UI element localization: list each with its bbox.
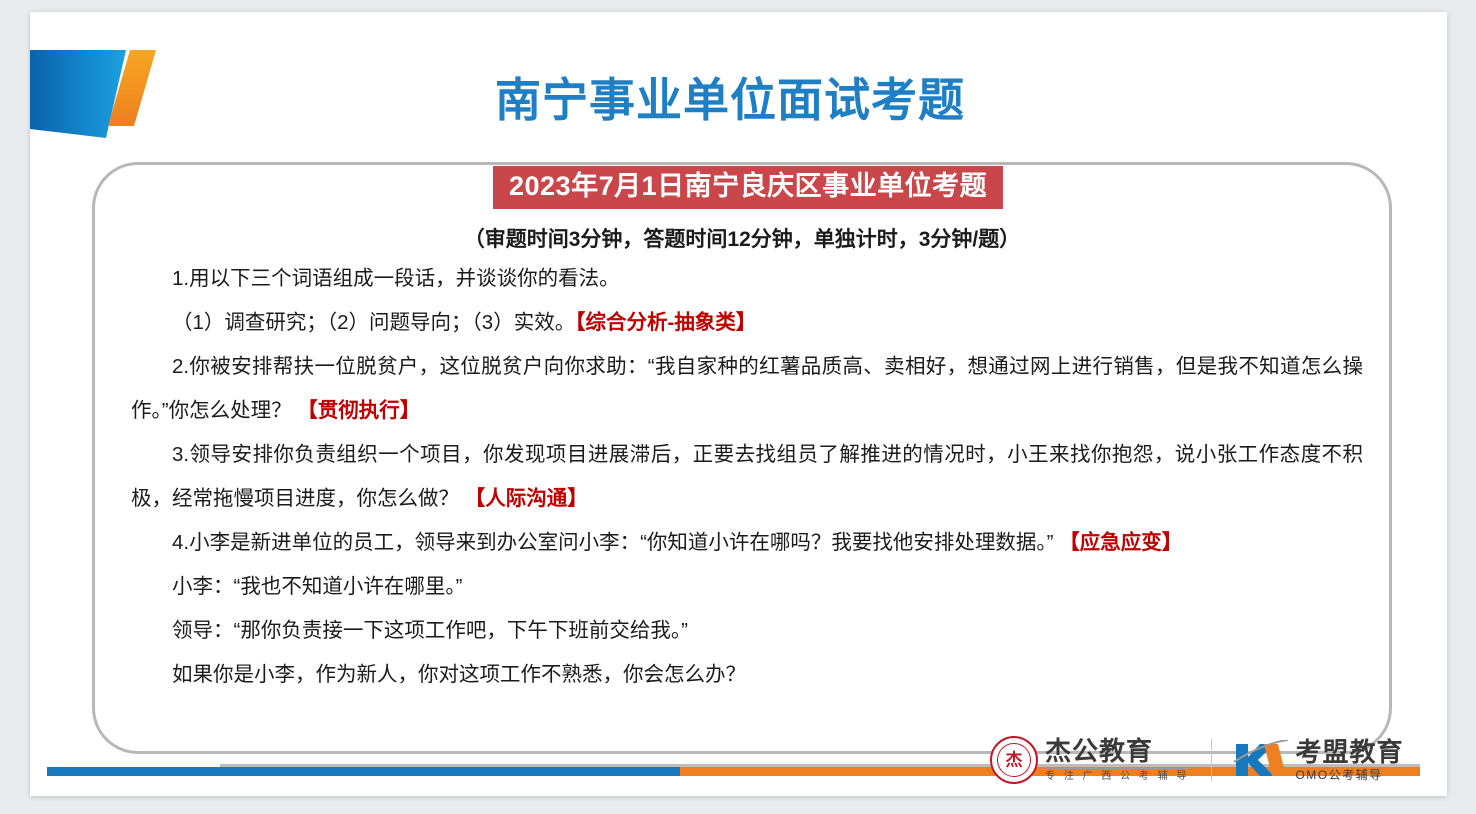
page-title: 南宁事业单位面试考题 (210, 64, 1250, 130)
logo-kaomeng-words: 考盟教育 OMO公考辅导 (1295, 739, 1403, 781)
logo-divider (1211, 739, 1212, 781)
footer-rule-blue (47, 767, 680, 776)
logo-jiegong: 杰 杰公教育 专 注 广 西 公 考 辅 导 (990, 736, 1189, 784)
logo-jiegong-words: 杰公教育 专 注 广 西 公 考 辅 导 (1045, 738, 1189, 782)
questions-body: 1.用以下三个词语组成一段话，并谈谈你的看法。 （1）调查研究；（2）问题导向；… (131, 257, 1363, 697)
seal-glyph: 杰 (992, 752, 1036, 769)
question-1-tag: 【综合分析-抽象类】 (575, 311, 756, 334)
logo-kaomeng-tagline: OMO公考辅导 (1295, 769, 1403, 781)
logo-kaomeng-name: 考盟教育 (1295, 739, 1403, 765)
question-4-tag: 【应急应变】 (1059, 531, 1182, 554)
question-1-items: （1）调查研究；（2）问题导向；（3）实效。【综合分析-抽象类】 (131, 301, 1363, 345)
question-2: 2.你被安排帮扶一位脱贫户，这位脱贫户向你求助：“我自家种的红薯品质高、卖相好，… (131, 345, 1363, 433)
seal-icon: 杰 (990, 736, 1038, 784)
question-2-tag: 【贯彻执行】 (297, 399, 420, 422)
question-4-prompt: 如果你是小李，作为新人，你对这项工作不熟悉，你会怎么办？ (131, 653, 1363, 697)
logo-jiegong-name: 杰公教育 (1045, 738, 1189, 764)
exam-banner: 2023年7月1日南宁良庆区事业单位考题 (493, 166, 1003, 209)
k-mark-icon (1234, 740, 1288, 780)
question-3: 3.领导安排你负责组织一个项目，你发现项目进展滞后，正要去找组员了解推进的情况时… (131, 433, 1363, 521)
question-4-dialogue-xiaoli: 小李：“我也不知道小许在哪里。” (131, 565, 1363, 609)
logo-jiegong-tagline: 专 注 广 西 公 考 辅 导 (1045, 768, 1189, 782)
brand-mark-icon (30, 50, 160, 138)
footer-logos: 杰 杰公教育 专 注 广 西 公 考 辅 导 考盟教育 OMO公考辅导 (990, 730, 1403, 790)
question-4-dialogue-leader: 领导：“那你负责接一下这项工作吧，下午下班前交给我。” (131, 609, 1363, 653)
exam-timing-note: （审题时间3分钟，答题时间12分钟，单独计时，3分钟/题） (95, 223, 1389, 253)
slide: 南宁事业单位面试考题 2023年7月1日南宁良庆区事业单位考题 （审题时间3分钟… (30, 12, 1447, 796)
question-3-tag: 【人际沟通】 (465, 487, 588, 510)
logo-kaomeng: 考盟教育 OMO公考辅导 (1234, 739, 1403, 781)
question-4: 4.小李是新进单位的员工，领导来到办公室问小李：“你知道小许在哪吗？我要找他安排… (131, 521, 1363, 565)
content-box: 2023年7月1日南宁良庆区事业单位考题 （审题时间3分钟，答题时间12分钟，单… (92, 162, 1392, 754)
question-1-stem: 1.用以下三个词语组成一段话，并谈谈你的看法。 (131, 257, 1363, 301)
